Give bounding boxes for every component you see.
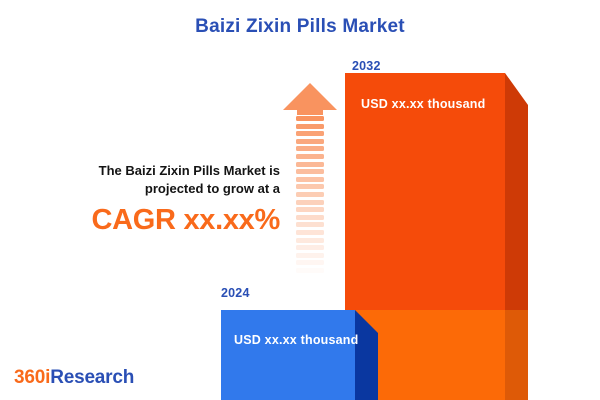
market-growth-infographic: Baizi Zixin Pills Market 2032 USD xx.xx … — [0, 0, 600, 400]
bar-label-2032: 2032 — [352, 59, 381, 73]
cagr-lead-line-2: projected to grow at a — [30, 180, 280, 198]
arrow-shaft-segment — [296, 260, 324, 265]
logo-text-360i: 360i — [14, 367, 50, 388]
arrow-shaft-segment — [296, 200, 324, 205]
page-title: Baizi Zixin Pills Market — [0, 16, 600, 38]
arrow-shaft-segment — [296, 230, 324, 235]
arrow-shaft-segment — [296, 177, 324, 182]
arrow-shaft-segment — [296, 169, 324, 174]
arrow-shaft-segment — [296, 222, 324, 227]
arrow-shaft-segment — [296, 124, 324, 129]
brand-logo: 360iResearch — [14, 367, 134, 389]
bar-forecast-value-label: USD xx.xx thousand — [361, 97, 485, 111]
arrow-shaft-segment — [296, 131, 324, 136]
arrow-shaft-segment — [296, 215, 324, 220]
arrow-head-icon — [283, 83, 337, 115]
cagr-lead-text: The Baizi Zixin Pills Market is projecte… — [30, 162, 280, 197]
arrow-shaft-segment — [296, 116, 324, 121]
arrow-shaft-segment — [296, 146, 324, 151]
growth-arrow-up-icon — [283, 83, 337, 283]
bar-base-2024: USD xx.xx thousand — [221, 310, 378, 400]
arrow-shaft-segment — [296, 162, 324, 167]
arrow-shaft-segment — [296, 238, 324, 243]
cagr-value: CAGR xx.xx% — [30, 205, 280, 235]
arrow-shaft-segment — [296, 268, 324, 273]
bar-label-2024: 2024 — [221, 286, 250, 300]
arrow-shaft-segment — [296, 207, 324, 212]
cagr-callout: The Baizi Zixin Pills Market is projecte… — [30, 162, 280, 236]
bar-base-front-face — [221, 310, 355, 400]
arrow-shaft-segment — [296, 192, 324, 197]
arrow-shaft — [296, 116, 324, 283]
arrow-shaft-segment — [296, 245, 324, 250]
arrow-shaft-segment — [296, 139, 324, 144]
logo-text-research: Research — [50, 367, 134, 388]
arrow-shaft-segment — [296, 253, 324, 258]
arrow-shaft-segment — [296, 184, 324, 189]
bar-base-value-label: USD xx.xx thousand — [234, 333, 358, 347]
arrow-shaft-segment — [296, 154, 324, 159]
cagr-lead-line-1: The Baizi Zixin Pills Market is — [30, 162, 280, 180]
